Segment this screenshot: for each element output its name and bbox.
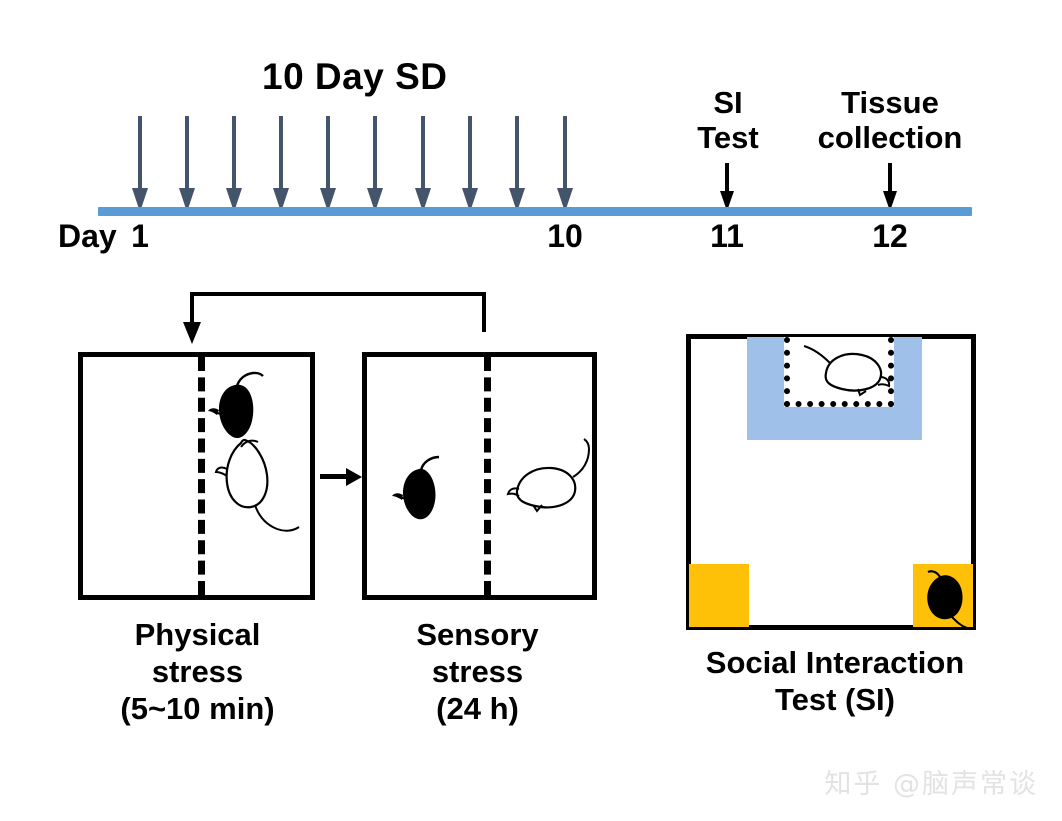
si-test-caption: Social Interaction Test (SI) [660,644,1010,718]
target-mouse-cage [784,337,894,407]
social-interaction-panel: Social Interaction Test (SI) [0,0,1062,821]
watermark: 知乎 @脑声常谈 [824,762,1038,801]
si-test-arena [686,334,976,630]
corner-zone-left [689,564,749,627]
test-black-mouse-icon [919,568,973,630]
target-white-mouse-icon [796,337,896,403]
corner-zone-right [913,564,973,627]
figure-canvas: 10 Day SD SI Test Tissue collection Day … [0,0,1062,821]
